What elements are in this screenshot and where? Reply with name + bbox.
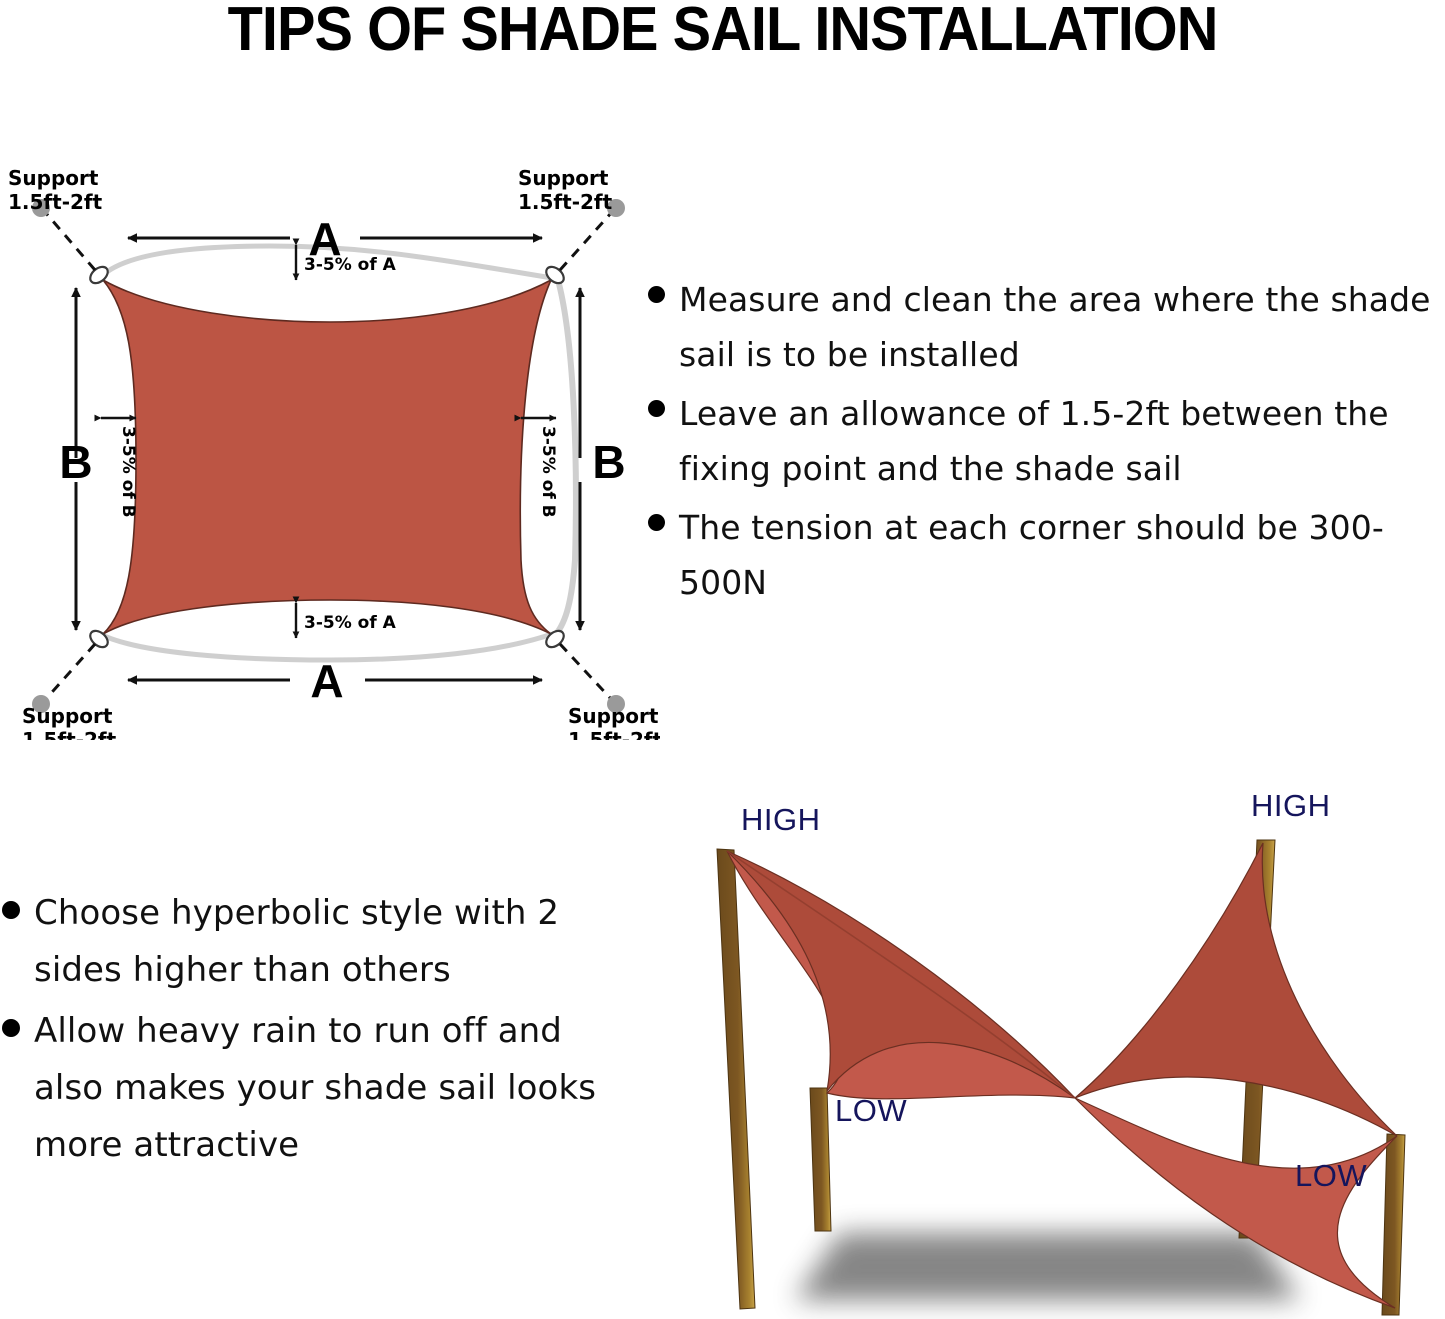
- pole-front-right: [1382, 1134, 1405, 1315]
- list-item: The tension at each corner should be 300…: [648, 500, 1445, 610]
- tip-text: The tension at each corner should be 300…: [679, 500, 1445, 610]
- support-label-top-left-line1: Support: [8, 166, 99, 190]
- dimension-label-b-right: B: [592, 436, 625, 488]
- curve-label-bottom: 3-5% of A: [304, 613, 397, 633]
- label-low-front-right: LOW: [1295, 1158, 1367, 1193]
- label-high-back-right: HIGH: [1251, 788, 1331, 823]
- label-high-back-left: HIGH: [741, 802, 821, 837]
- bullet-dot-icon: [648, 400, 665, 417]
- support-label-top-right-line1: Support: [518, 166, 609, 190]
- bullet-dot-icon: [648, 514, 665, 531]
- pole-front-left: [810, 1088, 831, 1231]
- list-item: Choose hyperbolic style with 2 sides hig…: [2, 885, 622, 999]
- hyperbolic-sail-illustration: HIGH HIGH LOW LOW: [655, 788, 1445, 1319]
- pole-back-left: [717, 849, 755, 1309]
- shade-sail-fabric: [103, 280, 551, 634]
- guide-curve-right: [556, 280, 576, 634]
- bullet-dot-icon: [2, 901, 20, 919]
- sail-surface-right-upper: [1075, 843, 1397, 1136]
- curve-label-top: 3-5% of A: [304, 255, 397, 275]
- support-label-bottom-right-line2: 1.5ft-2ft: [568, 728, 660, 740]
- page-title: TIPS OF SHADE SAIL INSTALLATION: [51, 0, 1395, 64]
- support-label-bottom-right-line1: Support: [568, 704, 659, 728]
- list-item: Allow heavy rain to run off and also mak…: [2, 1003, 622, 1174]
- dimension-label-a-bottom: A: [310, 655, 343, 707]
- label-low-front-left: LOW: [835, 1093, 907, 1128]
- support-label-bottom-left-line2: 1.5ft-2ft: [22, 728, 117, 740]
- list-item: Measure and clean the area where the sha…: [648, 272, 1445, 382]
- support-label-top-right-line2: 1.5ft-2ft: [518, 190, 613, 214]
- bullet-dot-icon: [2, 1019, 20, 1037]
- curve-label-left: 3-5% of B: [118, 426, 138, 518]
- support-line-top-right: [560, 212, 612, 270]
- list-item: Leave an allowance of 1.5-2ft between th…: [648, 386, 1445, 496]
- tip-text: Choose hyperbolic style with 2 sides hig…: [34, 885, 622, 999]
- curve-label-right: 3-5% of B: [538, 426, 558, 518]
- support-label-bottom-left-line1: Support: [22, 704, 113, 728]
- tip-text: Allow heavy rain to run off and also mak…: [34, 1003, 622, 1174]
- support-line-top-left: [45, 212, 95, 270]
- tip-text: Leave an allowance of 1.5-2ft between th…: [679, 386, 1445, 496]
- rectangle-sail-diagram: A 3-5% of A A 3-5% of A B 3-5% of B B 3-…: [0, 160, 660, 740]
- ground-shadow: [795, 1233, 1300, 1300]
- tip-text: Measure and clean the area where the sha…: [679, 272, 1445, 382]
- support-line-bottom-left: [45, 644, 95, 700]
- dimension-label-b-left: B: [59, 436, 92, 488]
- rectangle-sail-diagram-svg: A 3-5% of A A 3-5% of A B 3-5% of B B 3-…: [0, 160, 660, 740]
- installation-tips-list: Measure and clean the area where the sha…: [648, 272, 1445, 614]
- support-line-bottom-right: [560, 644, 612, 700]
- support-label-top-left-line2: 1.5ft-2ft: [8, 190, 103, 214]
- bullet-dot-icon: [648, 286, 665, 303]
- hyperbolic-style-tips-list: Choose hyperbolic style with 2 sides hig…: [2, 885, 622, 1178]
- hyperbolic-sail-svg: HIGH HIGH LOW LOW: [655, 788, 1445, 1319]
